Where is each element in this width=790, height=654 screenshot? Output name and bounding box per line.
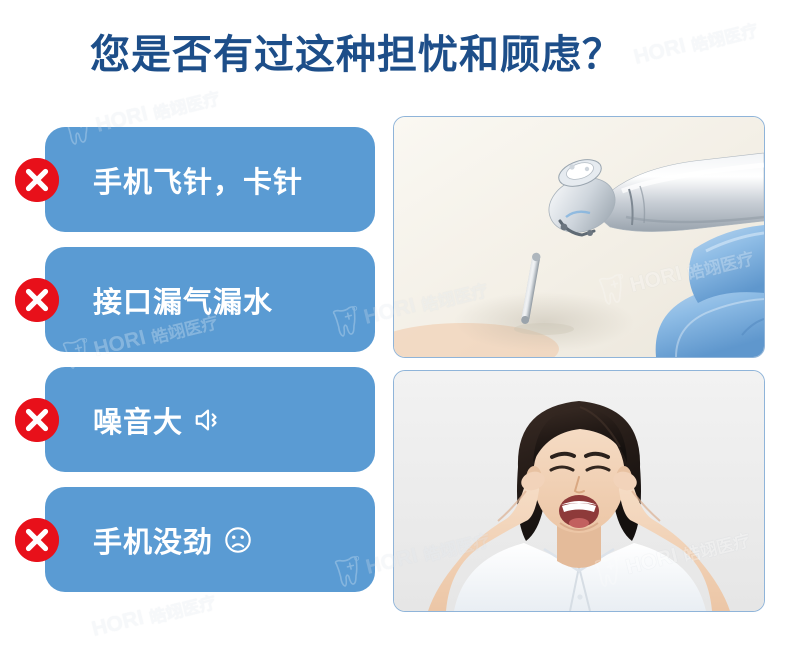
issue-label-wrap: 接口漏气漏水 — [93, 279, 273, 321]
issue-item-1[interactable]: 手机飞针，卡针 — [45, 127, 375, 232]
watermark-chinese: 皓翊医疗 — [150, 84, 222, 125]
issue-label-wrap: 手机飞针，卡针 — [93, 159, 303, 201]
x-circle-icon — [15, 278, 59, 322]
x-circle-icon — [15, 158, 59, 202]
issue-label: 手机没劲 — [93, 519, 213, 561]
tooth-plus-icon — [56, 615, 93, 654]
watermark-latin: HORI — [631, 34, 688, 70]
watermark-chinese: 皓翊医疗 — [688, 16, 760, 57]
issue-label-wrap: 手机没劲 — [93, 519, 253, 561]
sad-face-icon — [223, 525, 253, 555]
issue-item-4[interactable]: 手机没劲 — [45, 487, 375, 592]
issue-label: 噪音大 — [93, 399, 183, 441]
issue-item-2[interactable]: 接口漏气漏水 — [45, 247, 375, 352]
issue-list: 手机飞针，卡针 接口漏气漏水 — [45, 127, 375, 607]
promo-banner: 您是否有过这种担忧和顾虑？ 手机飞针，卡针 接口漏气漏水 — [0, 0, 790, 654]
x-circle-icon — [15, 398, 59, 442]
issue-label: 接口漏气漏水 — [93, 279, 273, 321]
issue-label: 手机飞针，卡针 — [93, 159, 303, 201]
x-circle-icon — [15, 518, 59, 562]
loud-speaker-icon — [193, 405, 223, 435]
page-title: 您是否有过这种担忧和顾虑？ — [90, 22, 623, 80]
issue-item-3[interactable]: 噪音大 — [45, 367, 375, 472]
watermark-latin: HORI — [89, 606, 146, 642]
photo-woman-covering-ears — [393, 370, 765, 612]
issue-label-wrap: 噪音大 — [93, 399, 223, 441]
photo-dental-handpiece — [393, 116, 765, 358]
